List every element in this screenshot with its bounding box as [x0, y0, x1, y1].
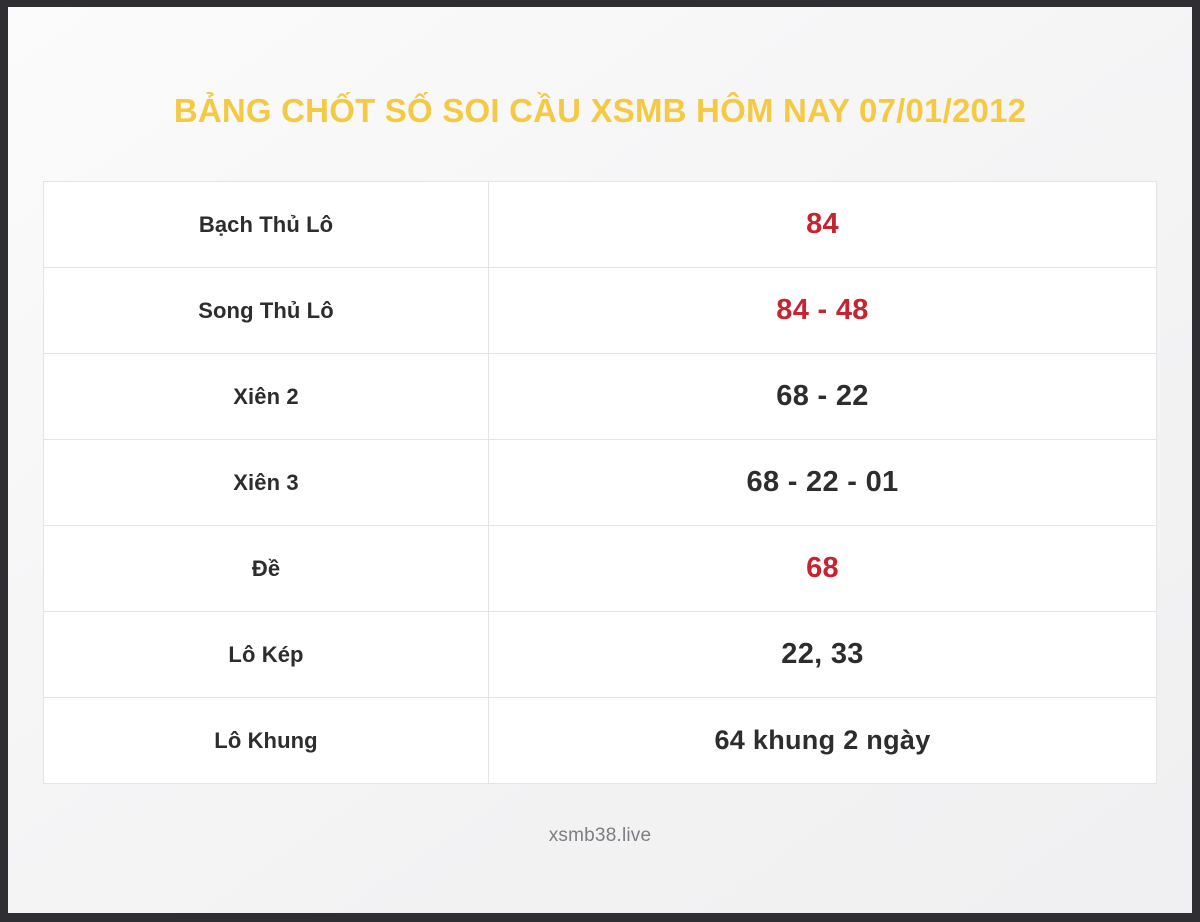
row-value-lo-kep: 22, 33: [489, 612, 1157, 698]
table-row: Lô Khung 64 khung 2 ngày: [44, 698, 1157, 784]
table-row: Xiên 2 68 - 22: [44, 354, 1157, 440]
table-row: Xiên 3 68 - 22 - 01: [44, 440, 1157, 526]
prediction-table-body: Bạch Thủ Lô 84 Song Thủ Lô 84 - 48 Xiên …: [44, 182, 1157, 784]
row-label-xien-3: Xiên 3: [44, 440, 489, 526]
row-label-bach-thu-lo: Bạch Thủ Lô: [44, 182, 489, 268]
page-title: BẢNG CHỐT SỐ SOI CẦU XSMB HÔM NAY 07/01/…: [174, 93, 1026, 129]
table-row: Lô Kép 22, 33: [44, 612, 1157, 698]
page-canvas: BẢNG CHỐT SỐ SOI CẦU XSMB HÔM NAY 07/01/…: [8, 7, 1192, 913]
row-value-song-thu-lo: 84 - 48: [489, 268, 1157, 354]
row-label-xien-2: Xiên 2: [44, 354, 489, 440]
row-label-lo-khung: Lô Khung: [44, 698, 489, 784]
site-watermark: xsmb38.live: [549, 825, 652, 847]
row-value-de: 68: [489, 526, 1157, 612]
row-value-xien-3: 68 - 22 - 01: [489, 440, 1157, 526]
table-row: Song Thủ Lô 84 - 48: [44, 268, 1157, 354]
outer-frame: BẢNG CHỐT SỐ SOI CẦU XSMB HÔM NAY 07/01/…: [0, 0, 1200, 922]
row-value-bach-thu-lo: 84: [489, 182, 1157, 268]
footer-container: xsmb38.live: [8, 825, 1192, 847]
table-row: Đề 68: [44, 526, 1157, 612]
row-value-xien-2: 68 - 22: [489, 354, 1157, 440]
page-title-container: BẢNG CHỐT SỐ SOI CẦU XSMB HÔM NAY 07/01/…: [8, 93, 1192, 129]
prediction-table: Bạch Thủ Lô 84 Song Thủ Lô 84 - 48 Xiên …: [43, 181, 1157, 784]
table-row: Bạch Thủ Lô 84: [44, 182, 1157, 268]
row-value-lo-khung: 64 khung 2 ngày: [489, 698, 1157, 784]
row-label-song-thu-lo: Song Thủ Lô: [44, 268, 489, 354]
row-label-de: Đề: [44, 526, 489, 612]
row-label-lo-kep: Lô Kép: [44, 612, 489, 698]
